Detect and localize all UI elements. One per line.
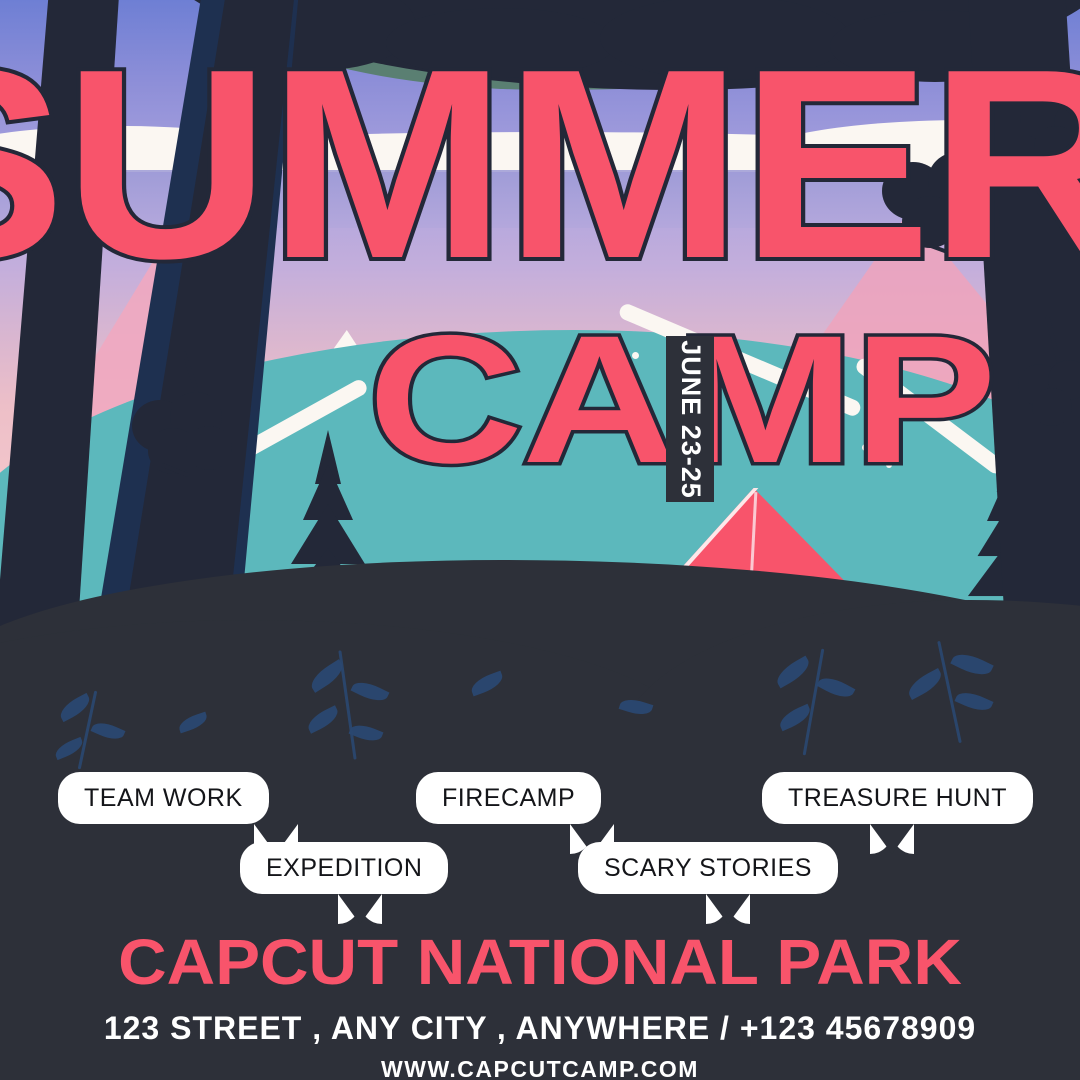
website-line[interactable]: WWW.CAPCUTCAMP.COM: [0, 1058, 1080, 1080]
summer-camp-poster: SUMMER CAMP JUNE 23-25 TEAM WORK FIRECAM…: [0, 0, 1080, 1080]
activity-pill-scary-stories[interactable]: SCARY STORIES: [578, 842, 838, 894]
activity-pill-group: TEAM WORK FIRECAMP TREASURE HUNT EXPEDIT…: [0, 0, 1080, 1080]
park-name: CAPCUT NATIONAL PARK: [0, 930, 1080, 994]
activity-pill-label: TREASURE HUNT: [788, 784, 1007, 813]
activity-pill-label: FIRECAMP: [442, 784, 575, 813]
activity-pill-expedition[interactable]: EXPEDITION: [240, 842, 448, 894]
activity-pill-treasure-hunt[interactable]: TREASURE HUNT: [762, 772, 1033, 824]
activity-pill-label: TEAM WORK: [84, 784, 243, 813]
activity-pill-label: EXPEDITION: [266, 854, 422, 883]
activity-pill-firecamp[interactable]: FIRECAMP: [416, 772, 601, 824]
footer-block: CAPCUT NATIONAL PARK 123 STREET , ANY CI…: [0, 930, 1080, 1080]
address-line: 123 STREET , ANY CITY , ANYWHERE / +123 …: [0, 1012, 1080, 1044]
activity-pill-label: SCARY STORIES: [604, 854, 812, 883]
activity-pill-team-work[interactable]: TEAM WORK: [58, 772, 269, 824]
